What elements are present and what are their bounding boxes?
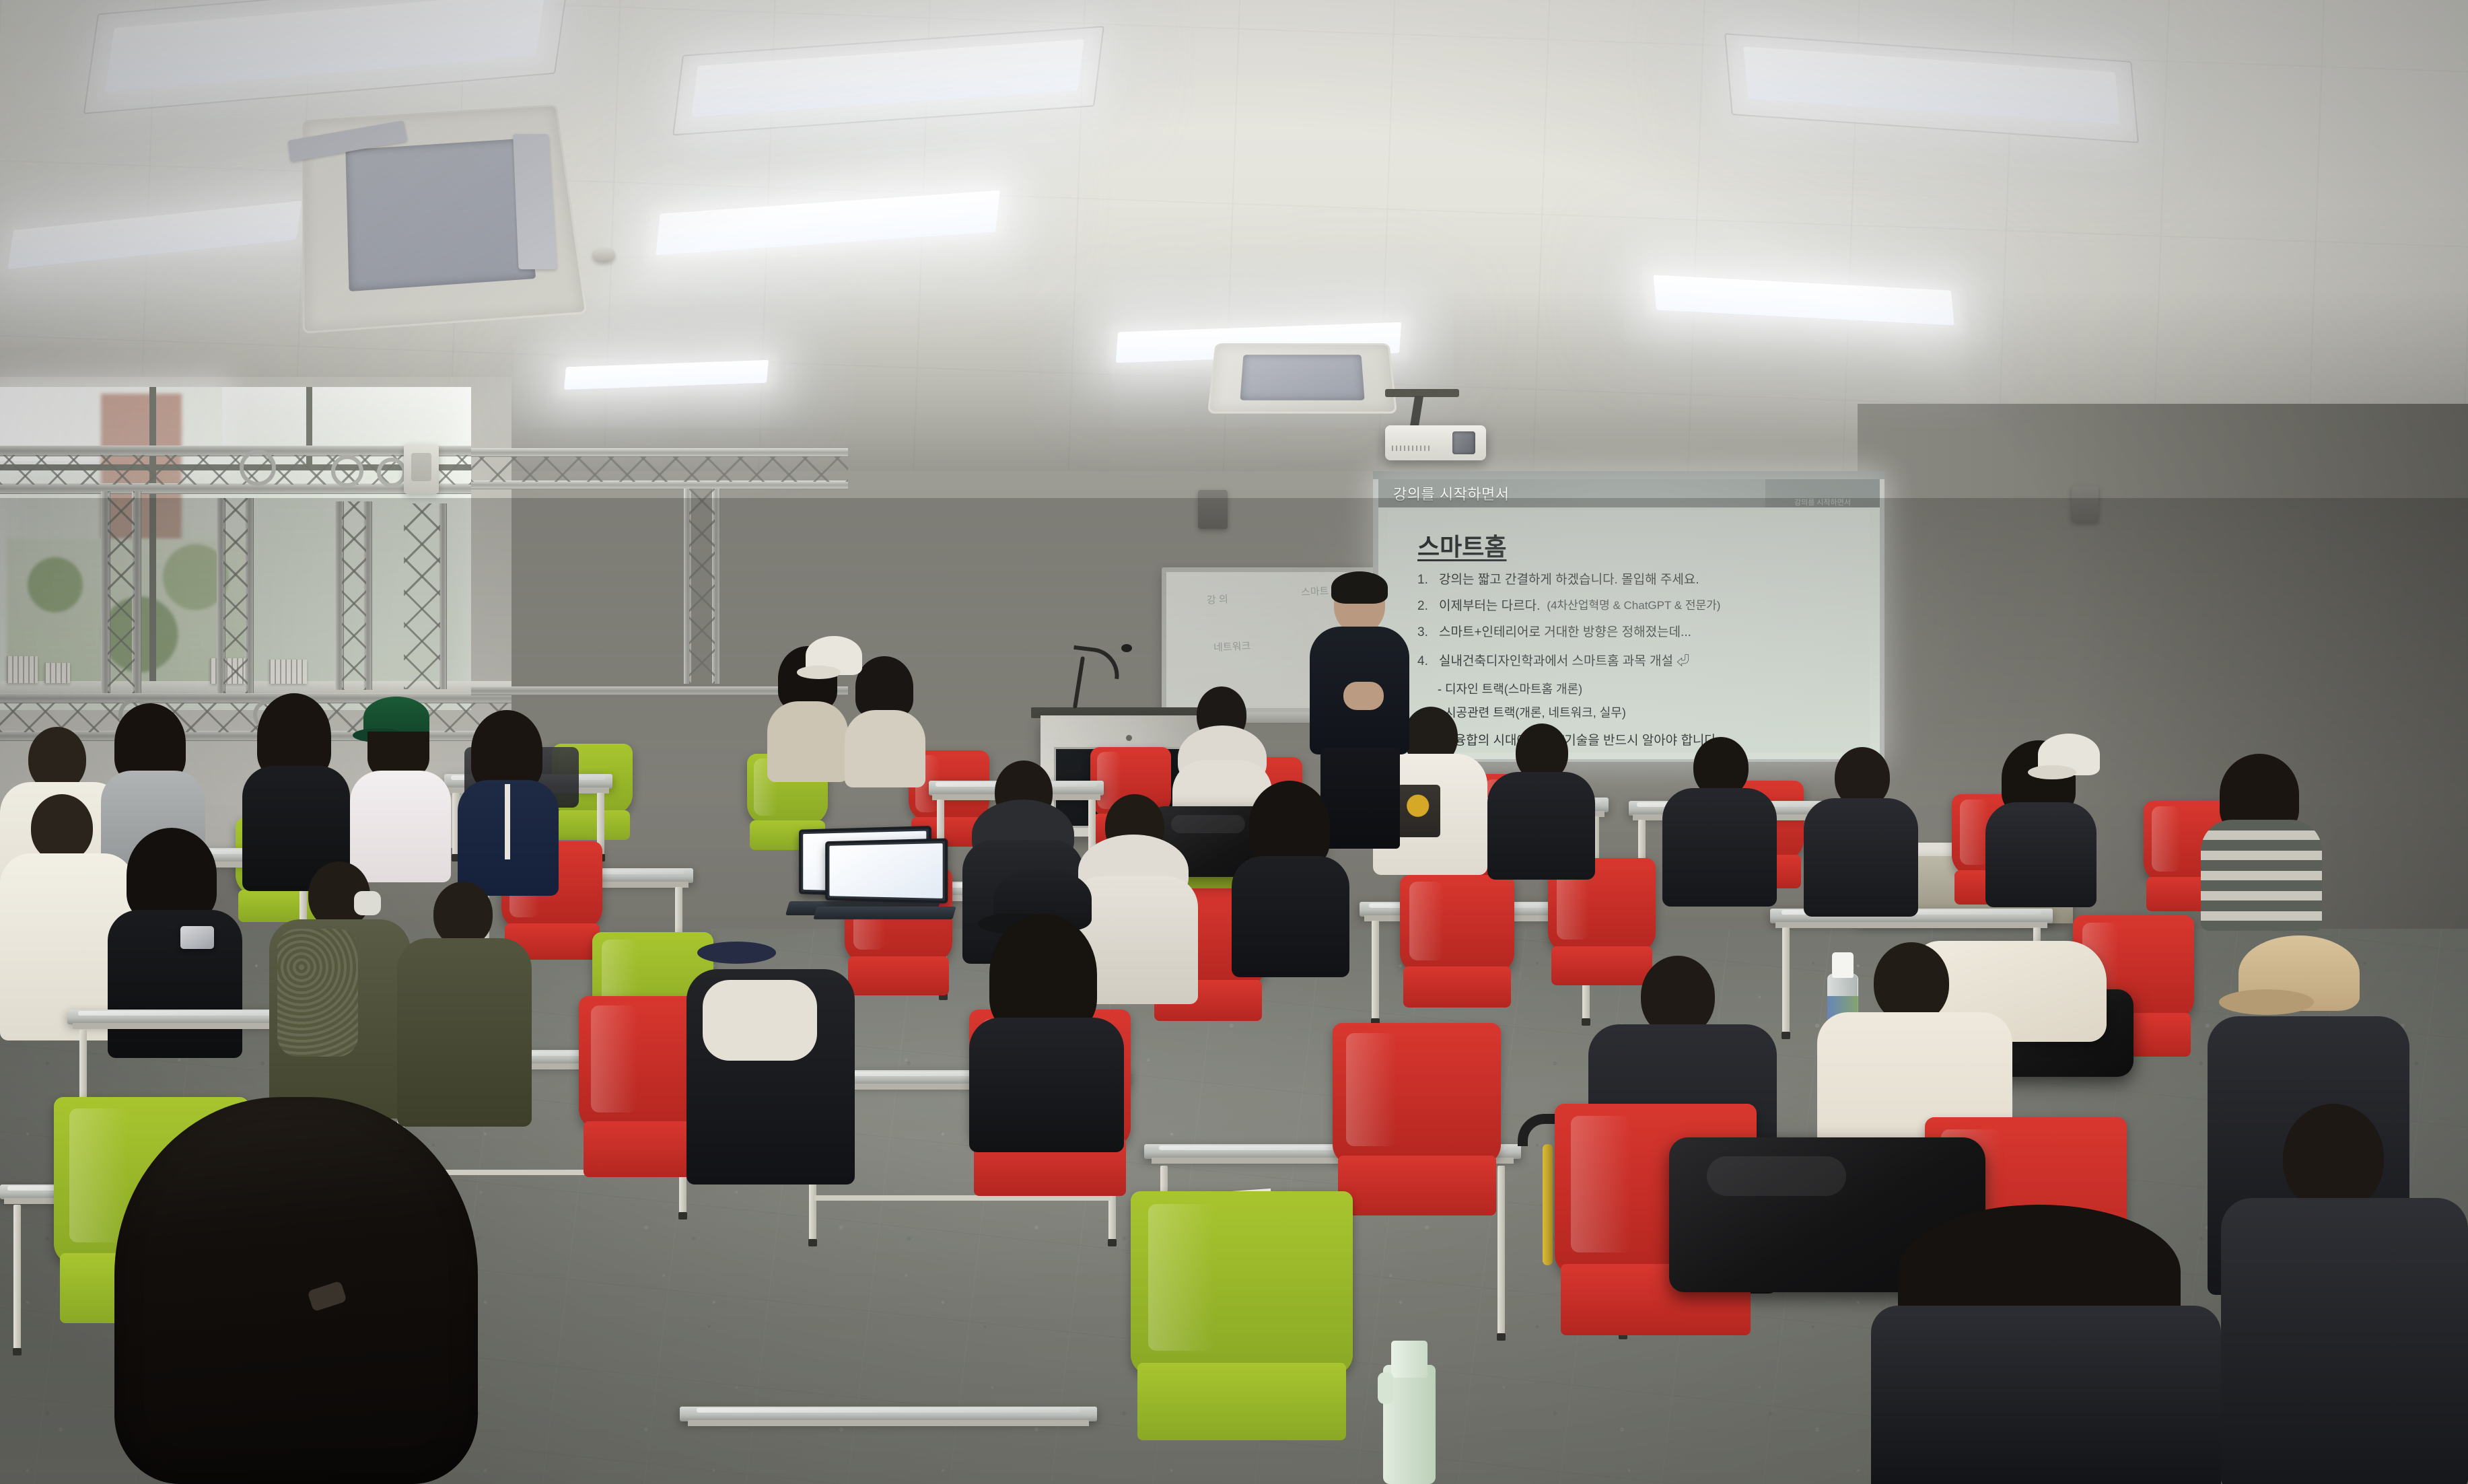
slide-bullet-list: 1. 강의는 짧고 간결하게 하겠습니다. 몰입해 주세요. 2. 이제부터는 …: [1417, 572, 1852, 670]
student-olive-fleece-2: [397, 882, 532, 1124]
slide-title: 스마트홈: [1417, 528, 1852, 563]
thermos-cap-icon: [1391, 1341, 1427, 1378]
wall-speaker-center: [1198, 490, 1228, 529]
truss-ring-2: [331, 455, 363, 487]
slide-subitem-1: - 디자인 트랙(스마트홈 개론): [1438, 680, 1852, 697]
slide-item-3-text: 스마트+인테리어로 거대한 방향은 정해졌는데...: [1439, 625, 1691, 641]
student-foreground-long-hair: [114, 1097, 478, 1484]
window-mullion-1: [149, 387, 156, 697]
student-front-navy-cap: [686, 895, 855, 1185]
slide-item-1-num: 1.: [1417, 572, 1432, 588]
slide-header-ghost: 강의를 시작하면서: [1765, 479, 1880, 507]
laptop-screen-2: [825, 838, 948, 903]
truss-lattice-v4: [404, 503, 440, 689]
truss-beam-top2: [0, 483, 471, 494]
slide-item-4: 4. 실내건축디자인학과에서 스마트홈 과목 개설 ⏎: [1417, 653, 1852, 670]
slide-item-3: 3. 스마트+인테리어로 거대한 방향은 정해졌는데...: [1417, 625, 1852, 641]
student-dark-jacket-1: [1487, 723, 1595, 878]
podium-indicator: [1126, 735, 1132, 741]
truss-ring-3: [377, 458, 407, 487]
ac-vent-grille-1: [345, 139, 536, 291]
slide-item-4-num: 4.: [1417, 653, 1432, 670]
navy-cap-icon: [713, 895, 814, 960]
fleece-texture: [277, 929, 358, 1057]
slide-header-title: 강의를 시작하면서: [1393, 483, 1510, 504]
student-striped-sweater: [2201, 754, 2322, 929]
student-back-cap-white: [798, 636, 872, 717]
truss-lattice-v1: [108, 491, 135, 693]
student-cap-white-2: [2026, 734, 2120, 814]
student-dark-jacket-3: [1804, 747, 1918, 915]
student-green-cap: [350, 697, 451, 878]
student-left-3: [242, 693, 350, 888]
classroom-photo: 강 의 스마트 홈 네트워크 실무 강의를 시작하면서 강의를 시작하면서 스마…: [0, 0, 2468, 1484]
chair-green-9[interactable]: [1131, 1191, 1353, 1484]
student-dark-jacket-2: [1662, 737, 1777, 905]
ac-vent-blade-2: [513, 134, 557, 269]
ac-vent-1: [302, 104, 587, 334]
slide-item-4-text: 실내건축디자인학과에서 스마트홈 과목 개설 ⏎: [1439, 653, 1689, 670]
slide-subitem-2: - 시공관련 트랙(개론, 네트워크, 실무): [1438, 703, 1852, 721]
microphone-head-icon: [1121, 644, 1132, 652]
student-front-right-largest: [2221, 1104, 2468, 1484]
table-top: [680, 1407, 1097, 1421]
foreground-hair: [114, 1097, 478, 1484]
thermos-latch: [1378, 1372, 1393, 1404]
projector: [1385, 425, 1486, 460]
projector-vents: [1392, 446, 1432, 451]
architecture-model-1: [7, 656, 38, 683]
student-olive-fleece: [269, 861, 411, 1117]
ac-vent-grille-2: [1240, 355, 1365, 400]
truss-lattice-v3: [342, 501, 366, 690]
face-mask-icon: [354, 891, 381, 915]
truss-lattice-v5: [689, 489, 715, 684]
whiteboard-scrawl-3: 네트워크: [1213, 639, 1250, 655]
architecture-model-2: [44, 663, 70, 683]
slide-item-2-num: 2.: [1417, 598, 1432, 614]
umbrella-shaft[interactable]: [1543, 1144, 1553, 1265]
student-mid-dark: [1232, 781, 1349, 976]
ceiling-light-8: [564, 360, 769, 390]
slide-item-2-text: 이제부터는 다르다.: [1439, 598, 1540, 614]
smoke-detector-icon: [592, 248, 615, 262]
truss-lattice-right: [471, 456, 848, 482]
truss-lattice-v2: [223, 498, 248, 693]
slide-item-1-text: 강의는 짧고 간결하게 하겠습니다. 몰입해 주세요.: [1439, 572, 1699, 588]
wall-speaker-left: [404, 444, 439, 494]
presenter-hair: [1331, 571, 1388, 604]
projector-lens-icon: [1452, 431, 1475, 454]
projection-screen-rail: [1373, 471, 1884, 479]
ceiling-light-7: [1653, 275, 1954, 326]
truss-ring-1: [240, 450, 276, 486]
slide-item-3-num: 3.: [1417, 625, 1432, 641]
ac-vent-2: [1207, 343, 1397, 413]
whiteboard-scrawl-0: 강 의: [1206, 592, 1228, 607]
student-front-black-cap: [969, 868, 1124, 1151]
slide-header-bar: 강의를 시작하면서 강의를 시작하면서: [1378, 479, 1880, 507]
thermos-bottle[interactable]: [1383, 1341, 1436, 1484]
presenter-hands: [1343, 682, 1384, 710]
smartphone-1[interactable]: [180, 926, 214, 949]
chair-red-15[interactable]: [1333, 1023, 1501, 1252]
student-navy-cardigan: [458, 710, 559, 892]
architecture-model-4: [269, 660, 307, 684]
hood-draped: [703, 980, 817, 1061]
slide-item-2-paren: (4차산업혁명 & ChatGPT & 전문가): [1547, 598, 1720, 614]
tan-cap-icon: [2238, 935, 2360, 1011]
table-front-center: [680, 1407, 1097, 1484]
wall-speaker-right: [2072, 486, 2099, 522]
slide-item-2: 2. 이제부터는 다르다. (4차산업혁명 & ChatGPT & 전문가): [1417, 598, 1852, 614]
student-foreground-right: [1871, 1205, 2221, 1484]
chair-red-11[interactable]: [1400, 875, 1514, 1033]
slide-item-1: 1. 강의는 짧고 간결하게 하겠습니다. 몰입해 주세요.: [1417, 572, 1852, 588]
